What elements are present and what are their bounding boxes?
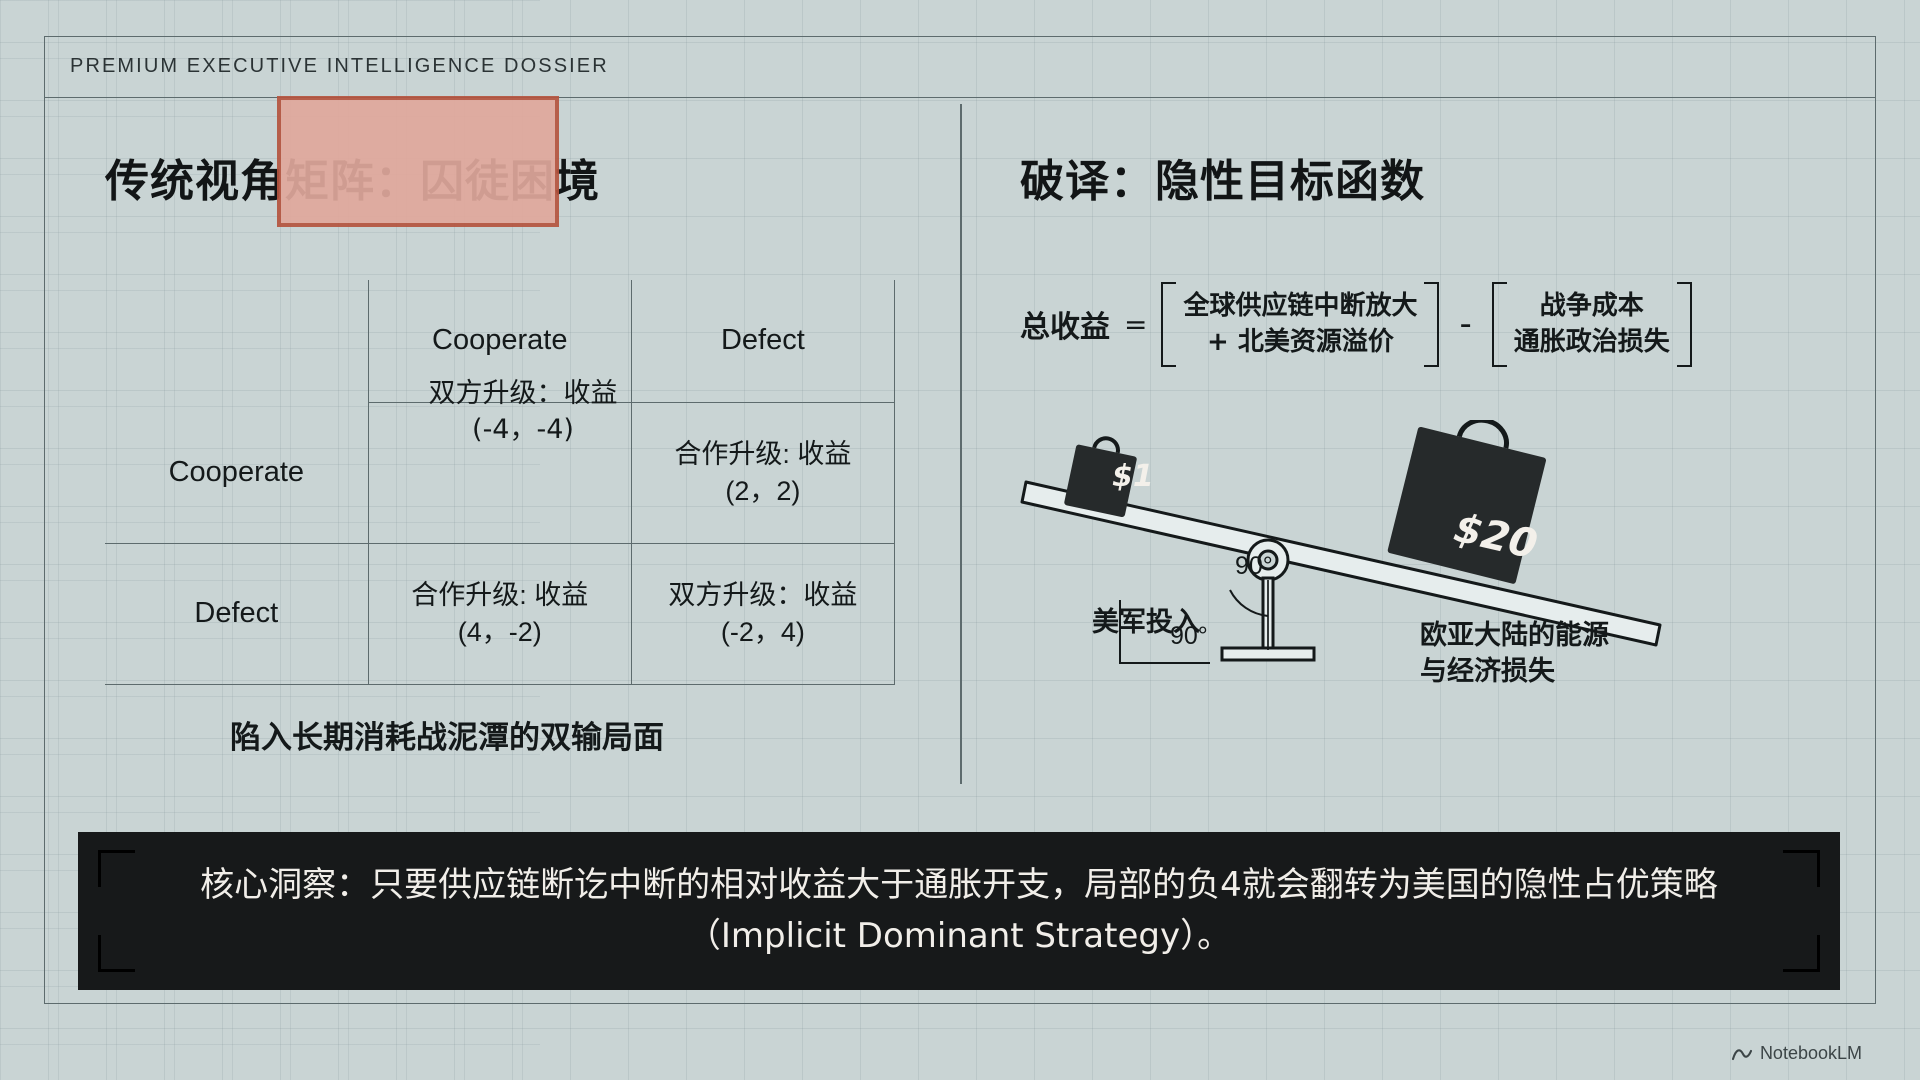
seesaw-left-label: 美军投入 [1092,600,1200,639]
matrix-corner-cell [105,280,368,402]
banner-corner-bottom-right [1783,935,1820,972]
matrix-col-header-defect: Defect [631,280,894,402]
formula-minus-operator: - [1459,304,1471,344]
highlighted-cell-outline [277,96,559,227]
matrix-caption: 陷入长期消耗战泥潭的双输局面 [230,712,664,757]
matrix-cell-dc-label: 合作升级: 收益 [411,580,588,610]
formula-lhs: 总收益 [1020,302,1110,346]
header-bar: PREMIUM EXECUTIVE INTELLIGENCE DOSSIER [44,36,1876,98]
formula-term-cost-line2: 通胀政治损失 [1514,324,1670,360]
formula-term-gain-line2: + 北美资源溢价 [1207,324,1394,360]
insight-banner: 核心洞察：只要供应链断讫中断的相对收益大于通胀开支，局部的负4就会翻转为美国的隐… [78,832,1840,990]
banner-corner-top-right [1783,850,1820,887]
insight-banner-text: 核心洞察：只要供应链断讫中断的相对收益大于通胀开支，局部的负4就会翻转为美国的隐… [179,860,1739,962]
notebooklm-label: NotebookLM [1760,1043,1862,1064]
matrix-col-header-cooperate: Cooperate [368,280,631,402]
matrix-cell-cd[interactable]: 合作升级: 收益 (2，2) [631,402,894,543]
banner-corner-top-left [98,850,135,887]
matrix-row-cooperate: Cooperate 双方升级：收益 (-4，-4) 合作升级: 收益 (2，2) [105,402,895,543]
seesaw-right-label-line1: 欧亚大陆的能源 [1420,620,1609,651]
matrix-header-row: Cooperate Defect [105,280,895,402]
matrix-cell-dc-payoff: (4，-2) [373,614,627,650]
weight-small-label: $1 [1112,459,1154,494]
matrix-row-header-cooperate: Cooperate [105,402,368,543]
notebooklm-watermark: NotebookLM [1731,1043,1862,1064]
formula-term-cost-line1: 战争成本 [1540,288,1644,324]
panel-divider [960,104,962,784]
right-panel-title: 破译：隐性目标函数 [1020,145,1425,209]
seesaw-diagram: $1 $20 90° 90° 美军投入 欧亚大陆的能源 与经济损失 [1020,420,1720,750]
matrix-cell-dd-payoff: (-2，4) [636,614,890,650]
seesaw-svg: $1 $20 [1020,420,1720,750]
seesaw-right-label: 欧亚大陆的能源 与经济损失 [1420,618,1609,691]
matrix-row-header-defect: Defect [105,543,368,684]
notebooklm-icon [1731,1045,1753,1063]
payoff-matrix: Cooperate Defect Cooperate 双方升级：收益 (-4，-… [105,280,895,685]
matrix-row-defect: Defect 合作升级: 收益 (4，-2) 双方升级：收益 (-2，4) [105,543,895,684]
formula-equals: = [1124,308,1147,341]
objective-function-formula: 总收益 = 全球供应链中断放大 + 北美资源溢价 - 战争成本 通胀政治损失 [1020,282,1692,367]
seesaw-right-label-line2: 与经济损失 [1420,656,1555,687]
matrix-cell-dc[interactable]: 合作升级: 收益 (4，-2) [368,543,631,684]
matrix-cell-dd[interactable]: 双方升级：收益 (-2，4) [631,543,894,684]
formula-term-cost: 战争成本 通胀政治损失 [1492,282,1692,367]
right-panel-title-wrap: 破译：隐性目标函数 [1020,145,1425,209]
header-title: PREMIUM EXECUTIVE INTELLIGENCE DOSSIER [70,55,609,78]
matrix-cell-dd-label: 双方升级：收益 [668,580,857,610]
angle-upper-label: 90° [1235,552,1273,581]
formula-term-gain-line1: 全球供应链中断放大 [1183,288,1417,324]
formula-term-gain: 全球供应链中断放大 + 北美资源溢价 [1161,282,1439,367]
matrix-cell-cd-label: 合作升级: 收益 [674,439,851,469]
banner-corner-bottom-left [98,935,135,972]
matrix-cell-cd-payoff: (2，2) [636,473,890,509]
